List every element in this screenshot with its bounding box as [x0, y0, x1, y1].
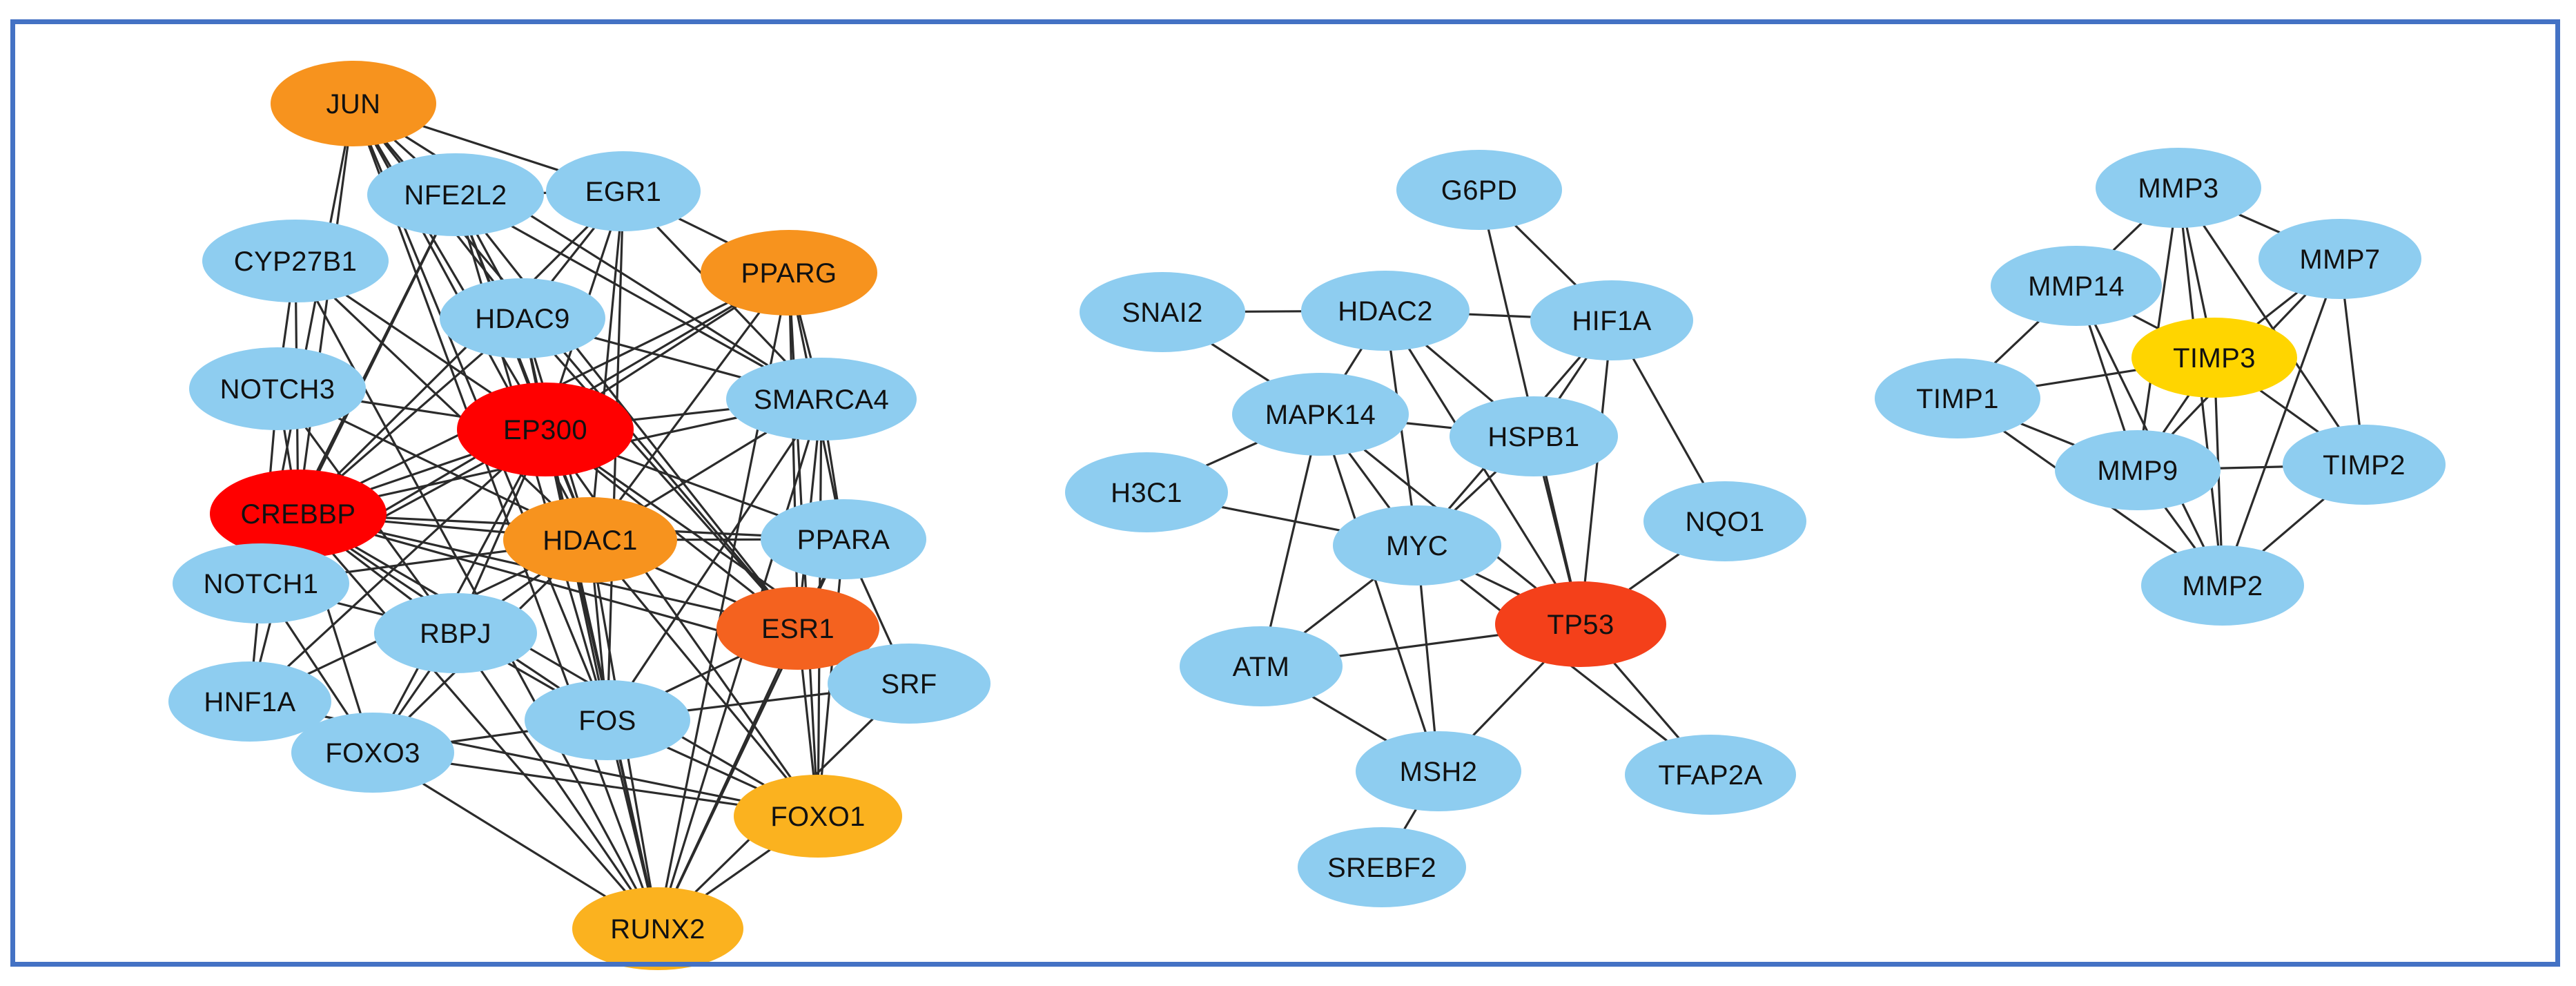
- network-edge: [283, 302, 289, 347]
- node-ellipse[interactable]: [457, 383, 634, 476]
- network-node[interactable]: JUN: [271, 61, 436, 146]
- network-node[interactable]: MAPK14: [1232, 373, 1409, 456]
- network-edge: [1313, 697, 1386, 741]
- network-edge: [1543, 476, 1570, 582]
- network-node[interactable]: TP53: [1495, 581, 1666, 667]
- node-ellipse[interactable]: [546, 151, 701, 231]
- node-ellipse[interactable]: [1333, 505, 1501, 586]
- node-ellipse[interactable]: [2131, 318, 2297, 398]
- network-node[interactable]: MMP9: [2055, 430, 2221, 510]
- network-edge: [2164, 396, 2189, 432]
- network-node[interactable]: FOS: [525, 680, 690, 760]
- network-node[interactable]: CREBBP: [210, 470, 387, 558]
- network-node[interactable]: SREBF2: [1298, 827, 1466, 907]
- node-ellipse[interactable]: [1530, 280, 1693, 360]
- node-ellipse[interactable]: [726, 358, 917, 441]
- network-node[interactable]: HSPB1: [1450, 396, 1618, 476]
- network-node[interactable]: MMP7: [2258, 219, 2421, 299]
- network-figure: JUNNFE2L2EGR1CYP27B1PPARGHDAC9NOTCH3SMAR…: [0, 0, 2576, 986]
- network-node[interactable]: HDAC1: [503, 497, 677, 583]
- network-edge: [1222, 507, 1340, 530]
- node-ellipse[interactable]: [202, 220, 389, 302]
- network-edge: [2187, 228, 2206, 318]
- network-node[interactable]: HDAC9: [440, 278, 605, 358]
- node-ellipse[interactable]: [1298, 827, 1466, 907]
- node-ellipse[interactable]: [1495, 581, 1666, 667]
- node-ellipse[interactable]: [503, 497, 677, 583]
- node-ellipse[interactable]: [1301, 271, 1470, 351]
- network-node[interactable]: RBPJ: [374, 593, 537, 673]
- node-ellipse[interactable]: [1875, 358, 2040, 438]
- network-edge: [2258, 293, 2297, 323]
- network-edge: [1470, 314, 1531, 317]
- network-node[interactable]: PPARG: [701, 230, 877, 316]
- node-ellipse[interactable]: [271, 61, 436, 146]
- network-edge: [1349, 454, 1389, 508]
- network-edge: [1345, 349, 1361, 375]
- network-edge: [1405, 810, 1416, 829]
- network-edge: [2134, 316, 2158, 328]
- node-ellipse[interactable]: [1396, 150, 1562, 230]
- network-edge: [2345, 299, 2359, 425]
- node-ellipse[interactable]: [1232, 373, 1409, 456]
- network-edge: [2114, 224, 2141, 250]
- network-node[interactable]: MSH2: [1356, 731, 1521, 811]
- node-ellipse[interactable]: [1180, 626, 1343, 706]
- network-node[interactable]: MMP3: [2096, 148, 2261, 228]
- network-edge: [1516, 226, 1575, 284]
- network-edge: [451, 731, 528, 742]
- network-node[interactable]: SNAI2: [1080, 272, 1245, 352]
- network-edge: [1996, 322, 2039, 362]
- network-edge: [1271, 456, 1311, 627]
- network-edge: [509, 664, 554, 690]
- network-node[interactable]: G6PD: [1396, 150, 1562, 230]
- node-ellipse[interactable]: [525, 680, 690, 760]
- node-ellipse[interactable]: [173, 543, 349, 623]
- network-edge: [1245, 311, 1301, 312]
- network-node[interactable]: ATM: [1180, 626, 1343, 706]
- network-node[interactable]: FOXO3: [291, 713, 454, 793]
- network-edge: [679, 219, 727, 242]
- node-ellipse[interactable]: [210, 470, 387, 558]
- network-node[interactable]: NFE2L2: [367, 153, 544, 236]
- network-canvas: JUNNFE2L2EGR1CYP27B1PPARGHDAC9NOTCH3SMAR…: [0, 0, 2576, 986]
- network-edge: [2089, 325, 2125, 430]
- network-node[interactable]: HIF1A: [1530, 280, 1693, 360]
- network-edge: [1340, 635, 1498, 656]
- network-node[interactable]: H3C1: [1065, 452, 1228, 532]
- network-edge: [602, 307, 736, 394]
- node-ellipse[interactable]: [701, 230, 877, 316]
- network-edge: [253, 623, 257, 661]
- node-ellipse[interactable]: [734, 775, 902, 858]
- node-ellipse[interactable]: [1080, 272, 1245, 352]
- node-ellipse[interactable]: [189, 347, 366, 430]
- node-ellipse[interactable]: [1065, 452, 1228, 532]
- node-ellipse[interactable]: [440, 278, 605, 358]
- network-edge: [1421, 586, 1435, 731]
- network-edge: [656, 568, 735, 602]
- network-node[interactable]: TIMP2: [2283, 425, 2446, 505]
- network-edge: [1476, 574, 1519, 594]
- node-ellipse[interactable]: [1643, 481, 1806, 561]
- network-edge: [2263, 499, 2323, 550]
- network-edge: [2221, 467, 2283, 468]
- network-edge: [1305, 579, 1373, 632]
- network-edge: [2165, 508, 2195, 548]
- node-ellipse[interactable]: [367, 153, 544, 236]
- node-ellipse[interactable]: [1991, 246, 2162, 326]
- network-node[interactable]: SRF: [828, 644, 991, 724]
- node-ellipse[interactable]: [572, 887, 743, 970]
- network-node[interactable]: TIMP1: [1875, 358, 2040, 438]
- node-ellipse[interactable]: [291, 713, 454, 793]
- network-node[interactable]: EP300: [457, 383, 634, 476]
- network-edge: [1630, 554, 1679, 589]
- network-edge: [1212, 344, 1269, 380]
- network-edge: [1474, 663, 1543, 735]
- node-ellipse[interactable]: [1356, 731, 1521, 811]
- node-ellipse[interactable]: [2055, 430, 2221, 510]
- network-node[interactable]: TFAP2A: [1625, 735, 1796, 815]
- node-ellipse[interactable]: [2283, 425, 2446, 505]
- network-edge: [424, 784, 605, 896]
- node-layer: JUNNFE2L2EGR1CYP27B1PPARGHDAC9NOTCH3SMAR…: [168, 61, 2446, 970]
- network-node[interactable]: MMP2: [2141, 545, 2304, 626]
- node-ellipse[interactable]: [2096, 148, 2261, 228]
- network-edge: [1585, 360, 1608, 581]
- node-ellipse[interactable]: [374, 593, 537, 673]
- network-node[interactable]: MYC: [1333, 505, 1501, 586]
- network-node[interactable]: EGR1: [546, 151, 701, 231]
- network-edge: [2240, 215, 2279, 232]
- network-node[interactable]: CYP27B1: [202, 220, 389, 302]
- network-node[interactable]: HDAC2: [1301, 271, 1470, 351]
- network-node[interactable]: MMP14: [1991, 246, 2162, 326]
- network-edge: [2022, 424, 2074, 445]
- node-ellipse[interactable]: [1450, 396, 1618, 476]
- node-ellipse[interactable]: [761, 499, 926, 579]
- node-ellipse[interactable]: [828, 644, 991, 724]
- network-node[interactable]: PPARA: [761, 499, 926, 579]
- node-ellipse[interactable]: [1625, 735, 1796, 815]
- node-ellipse[interactable]: [2258, 219, 2421, 299]
- network-edge: [1634, 359, 1704, 483]
- network-edge: [687, 693, 830, 710]
- network-node[interactable]: FOXO1: [734, 775, 902, 858]
- network-edge: [371, 455, 471, 489]
- network-edge: [1207, 443, 1256, 465]
- network-node[interactable]: NOTCH1: [173, 543, 349, 623]
- network-edge: [1614, 664, 1679, 737]
- network-node[interactable]: NOTCH3: [189, 347, 366, 430]
- network-edge: [1334, 455, 1426, 731]
- network-node[interactable]: SMARCA4: [726, 358, 917, 441]
- network-node[interactable]: RUNX2: [572, 887, 743, 970]
- network-node[interactable]: TIMP3: [2131, 318, 2297, 398]
- node-ellipse[interactable]: [2141, 545, 2304, 626]
- network-node[interactable]: NQO1: [1643, 481, 1806, 561]
- network-edge: [1407, 423, 1452, 428]
